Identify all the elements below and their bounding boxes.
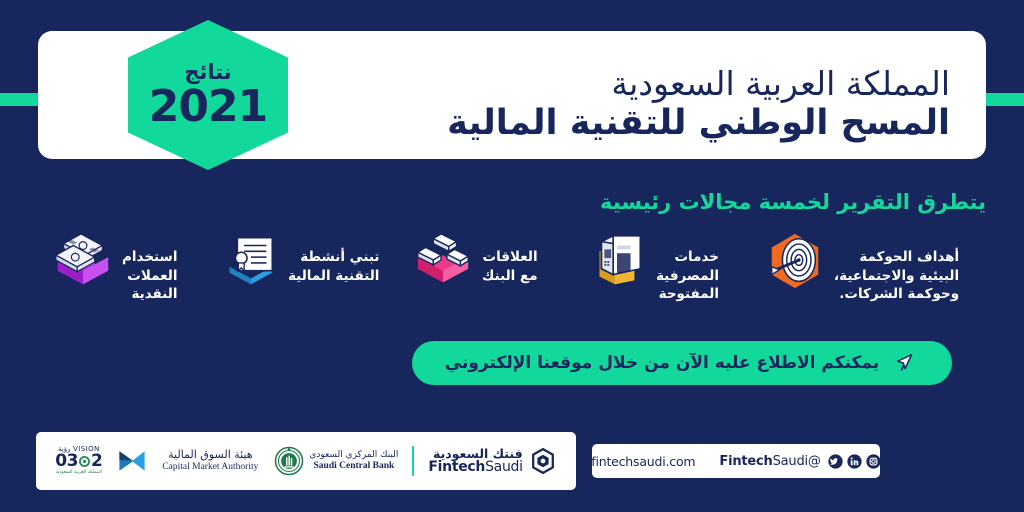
title-line-kingdom: المملكة العربية السعودية <box>350 67 950 100</box>
footer-logo-bar: فنتك السعودية FintechSaudi البنك المركزي… <box>36 432 576 490</box>
infographic-canvas: المملكة العربية السعودية المسح الوطني لل… <box>0 0 1024 512</box>
fintech-saudi-logo-icon <box>529 447 557 475</box>
target-dart-icon <box>764 228 826 294</box>
green-accent-bar-left <box>0 93 42 106</box>
area-label: خدمات المصرفية المفتوحة <box>656 228 719 304</box>
subtitle-five-areas: يتطرق التقرير لخمسة مجالات رئيسية <box>600 190 986 214</box>
area-item-open-banking: خدمات المصرفية المفتوحة <box>586 228 748 304</box>
vision-2030-number: 230 <box>55 453 102 470</box>
area-label: أهداف الحوكمة البيئية والاجتماعية، وحوكم… <box>834 228 959 304</box>
area-label: استخدام العملات النقدية <box>122 228 177 304</box>
area-label: تبني أنشطة التقنية المالية <box>288 228 379 285</box>
cash-stack-icon <box>52 228 114 294</box>
area-item-esg-goals: أهداف الحوكمة البيئية والاجتماعية، وحوكم… <box>764 228 960 304</box>
cta-button[interactable]: يمكنكم الاطلاع عليه الآن من خلال موقعنا … <box>412 341 952 385</box>
certificate-icon <box>218 228 280 294</box>
logo-fintech-saudi: فنتك السعودية FintechSaudi <box>420 439 564 483</box>
scb-english: Saudi Central Bank <box>314 461 395 471</box>
logo-divider <box>412 446 414 476</box>
vision-2030-sub: المملكة العربية السعودية <box>56 471 102 476</box>
fintech-saudi-english: FintechSaudi <box>428 460 522 475</box>
title-line-survey: المسح الوطني للتقنية المالية <box>350 106 950 141</box>
twitter-icon[interactable] <box>828 454 843 469</box>
instagram-icon[interactable] <box>866 454 881 469</box>
logo-saudi-central-bank: البنك المركزي السعودي Saudi Central Bank <box>266 439 406 483</box>
area-item-cash-usage: استخدام العملات النقدية <box>52 228 202 304</box>
green-accent-bar-right <box>982 93 1024 106</box>
logo-vision-2030: VISION رؤية 230 المملكة العربية السعودية <box>47 439 110 483</box>
area-item-fintech-adoption: تبني أنشطة التقنية المالية <box>218 228 396 294</box>
badge-year: 2021 <box>149 85 267 129</box>
cta-label: يمكنكم الاطلاع عليه الآن من خلال موقعنا … <box>445 353 879 373</box>
atm-machine-icon <box>586 228 648 294</box>
linkedin-icon[interactable] <box>847 454 862 469</box>
capital-market-authority-mark-icon <box>118 447 146 475</box>
cma-english: Capital Market Authority <box>162 462 258 473</box>
website-url[interactable]: fintechsaudi.com <box>591 454 695 469</box>
areas-row: استخدام العملات النقدية تبني أنشطة التقن… <box>0 228 1024 336</box>
footer-social-bar: @FintechSaudi fintechsaudi.com <box>592 444 880 478</box>
badge-label: نتائج <box>184 62 231 83</box>
social-handle: @FintechSaudi <box>719 454 820 469</box>
area-label: العلاقات مع البنك <box>482 228 538 285</box>
area-item-bank-relations: العلاقات مع البنك <box>412 228 570 294</box>
logo-capital-market-authority: هيئة السوق المالية Capital Market Author… <box>154 439 266 483</box>
cursor-pointer-icon <box>893 350 919 376</box>
page-title: المملكة العربية السعودية المسح الوطني لل… <box>350 67 950 141</box>
vision-2030-gear-icon <box>78 455 91 468</box>
saudi-central-bank-seal-icon <box>274 446 304 476</box>
scb-arabic: البنك المركزي السعودي <box>309 451 398 461</box>
logo-cma-mark <box>110 439 154 483</box>
cma-arabic: هيئة السوق المالية <box>168 449 252 462</box>
gold-bars-icon <box>412 228 474 294</box>
